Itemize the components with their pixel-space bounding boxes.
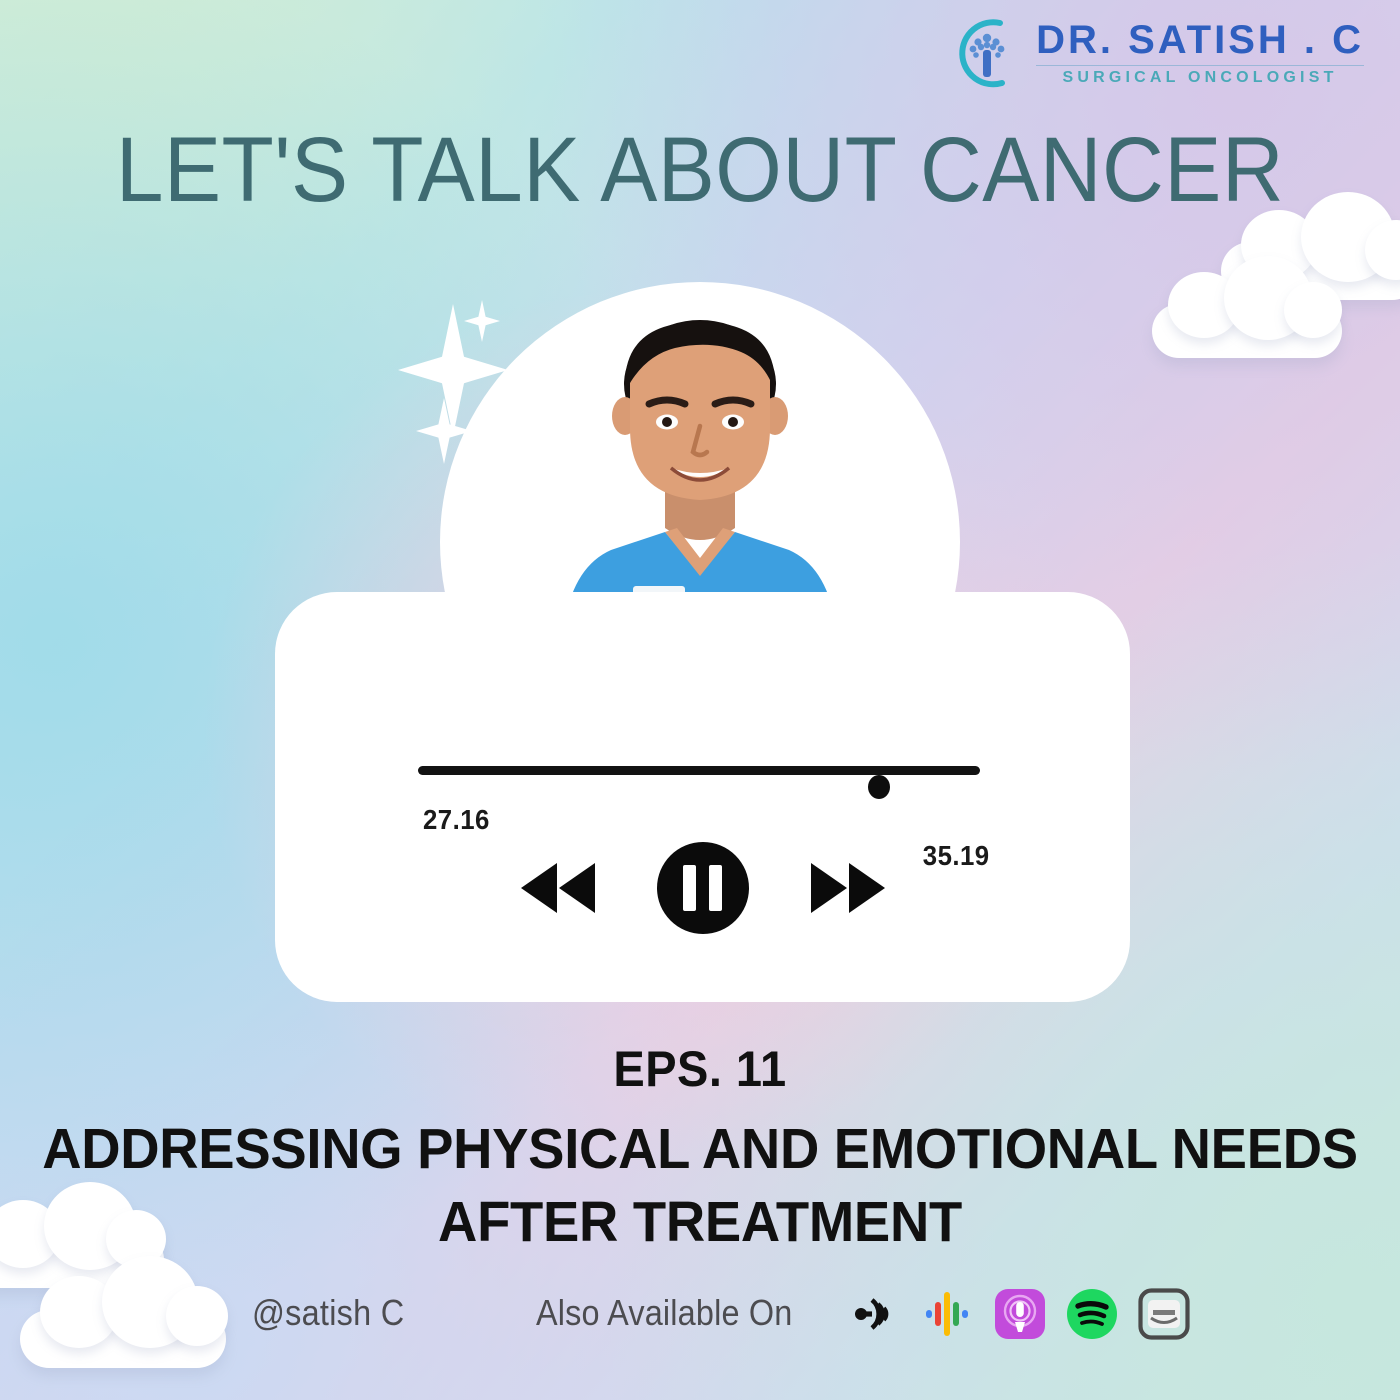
logo-subtitle: SURGICAL ONCOLOGIST xyxy=(1036,70,1364,86)
forward-button[interactable] xyxy=(805,857,891,919)
progress-bar-track[interactable] xyxy=(418,766,980,775)
pause-button[interactable] xyxy=(657,842,749,934)
page-title: LET'S TALK ABOUT CANCER xyxy=(49,118,1351,223)
audio-player-card: 27.16 35.19 xyxy=(275,592,1130,1002)
episode-title-line-1: ADDRESSING PHYSICAL AND EMOTIONAL NEEDS xyxy=(32,1113,1369,1186)
google-podcasts-icon[interactable] xyxy=(922,1288,974,1340)
episode-number: EPS. 11 xyxy=(42,1040,1358,1098)
cloud-bottom-left-2 xyxy=(16,1252,232,1374)
rewind-button[interactable] xyxy=(515,857,601,919)
progress-bar-knob[interactable] xyxy=(868,775,890,799)
spotify-icon[interactable] xyxy=(1066,1288,1118,1340)
sparkle-icon-small xyxy=(464,300,500,342)
apple-podcasts-icon[interactable] xyxy=(994,1288,1046,1340)
tree-ribbon-icon xyxy=(950,14,1024,92)
also-available-label: Also Available On xyxy=(536,1292,792,1334)
logo-name: DR. SATISH . C xyxy=(1036,20,1364,60)
episode-title-line-2: AFTER TREATMENT xyxy=(32,1186,1369,1259)
playback-controls xyxy=(275,842,1130,934)
pause-bar-left xyxy=(683,865,696,911)
amazon-music-podcast-icon[interactable] xyxy=(850,1288,902,1340)
platform-icon-list xyxy=(850,1288,1190,1340)
podcast-cover-poster: DR. SATISH . C SURGICAL ONCOLOGIST LET'S… xyxy=(0,0,1400,1400)
brand-logo: DR. SATISH . C SURGICAL ONCOLOGIST xyxy=(950,14,1364,92)
pause-bar-right xyxy=(709,865,722,911)
elapsed-time: 27.16 xyxy=(423,804,490,836)
episode-title: ADDRESSING PHYSICAL AND EMOTIONAL NEEDS … xyxy=(32,1113,1369,1259)
pocket-casts-icon[interactable] xyxy=(1138,1288,1190,1340)
cloud-top-right-2 xyxy=(1148,252,1348,364)
logo-divider xyxy=(1036,65,1364,66)
author-handle: @satish C xyxy=(252,1292,404,1334)
